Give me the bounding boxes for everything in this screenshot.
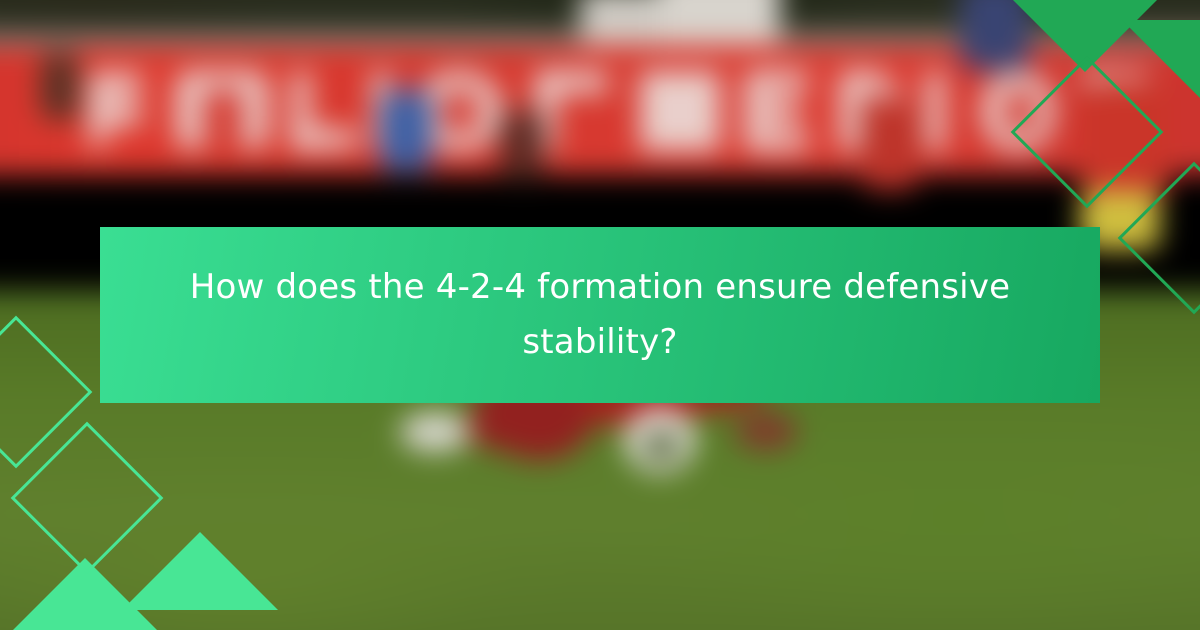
title-card: How does the 4-2-4 formation ensure defe…: [100, 227, 1100, 403]
background-figure: [500, 110, 544, 180]
page-title: How does the 4-2-4 formation ensure defe…: [170, 260, 1030, 370]
background-figure: [860, 100, 920, 190]
background-figure: [40, 52, 80, 120]
background-figure: [380, 90, 432, 172]
social-card-canvas: How does the 4-2-4 formation ensure defe…: [0, 0, 1200, 630]
background-boot: [735, 412, 797, 450]
deco-triangle-top-right-secondary: [1122, 20, 1200, 98]
background-ball-shadow: [644, 430, 678, 460]
background-boot: [400, 412, 470, 452]
deco-triangle-bottom-left-secondary: [122, 532, 278, 610]
